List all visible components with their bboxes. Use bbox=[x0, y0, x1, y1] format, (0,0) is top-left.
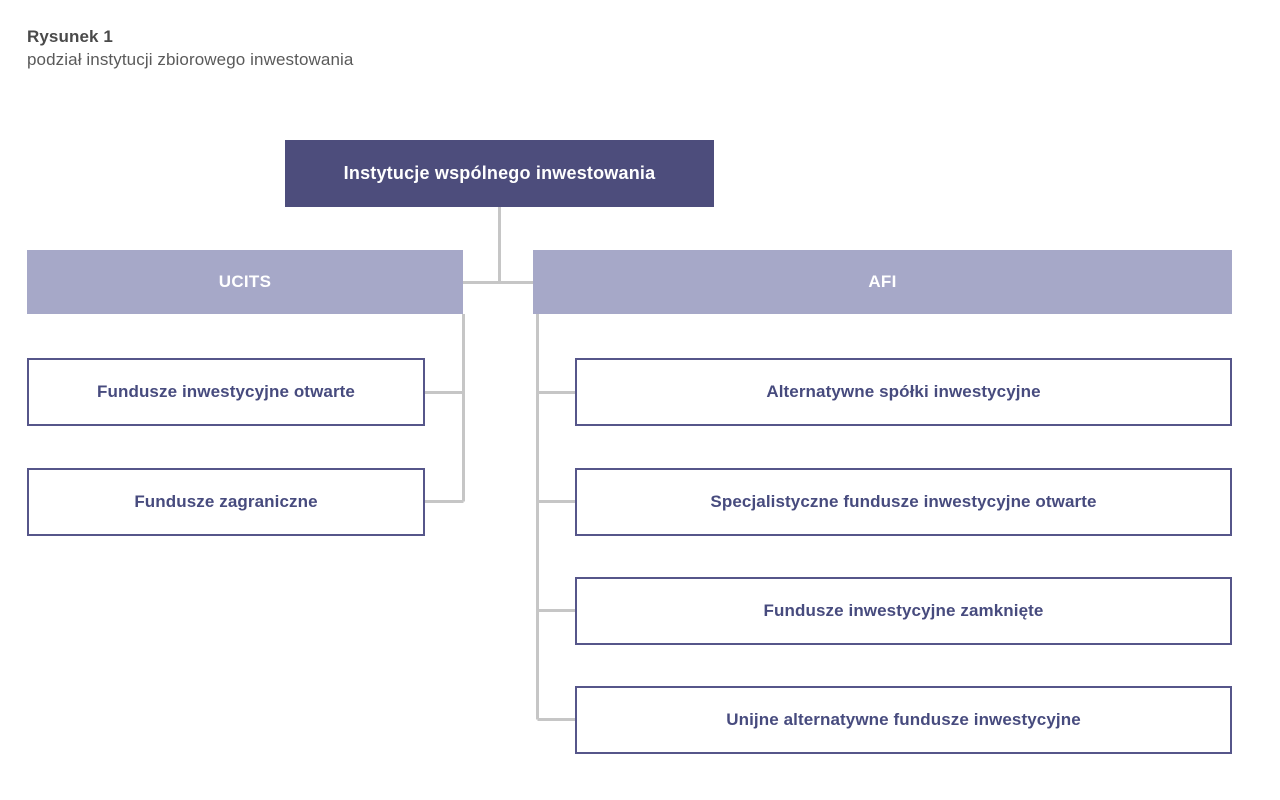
node-ucits-child-1[interactable]: Fundusze inwestycyjne otwarte bbox=[27, 358, 425, 426]
node-afi-child-1[interactable]: Alternatywne spółki inwestycyjne bbox=[575, 358, 1232, 426]
node-category-ucits[interactable]: UCITS bbox=[27, 250, 463, 314]
org-chart-diagram: Instytucje wspólnego inwestowania UCITS … bbox=[0, 0, 1280, 800]
node-category-afi[interactable]: AFI bbox=[533, 250, 1232, 314]
node-afi-child-4[interactable]: Unijne alternatywne fundusze inwestycyjn… bbox=[575, 686, 1232, 754]
node-ucits-child-2[interactable]: Fundusze zagraniczne bbox=[27, 468, 425, 536]
node-afi-child-3[interactable]: Fundusze inwestycyjne zamknięte bbox=[575, 577, 1232, 645]
node-root[interactable]: Instytucje wspólnego inwestowania bbox=[285, 140, 714, 207]
node-afi-child-2[interactable]: Specjalistyczne fundusze inwestycyjne ot… bbox=[575, 468, 1232, 536]
